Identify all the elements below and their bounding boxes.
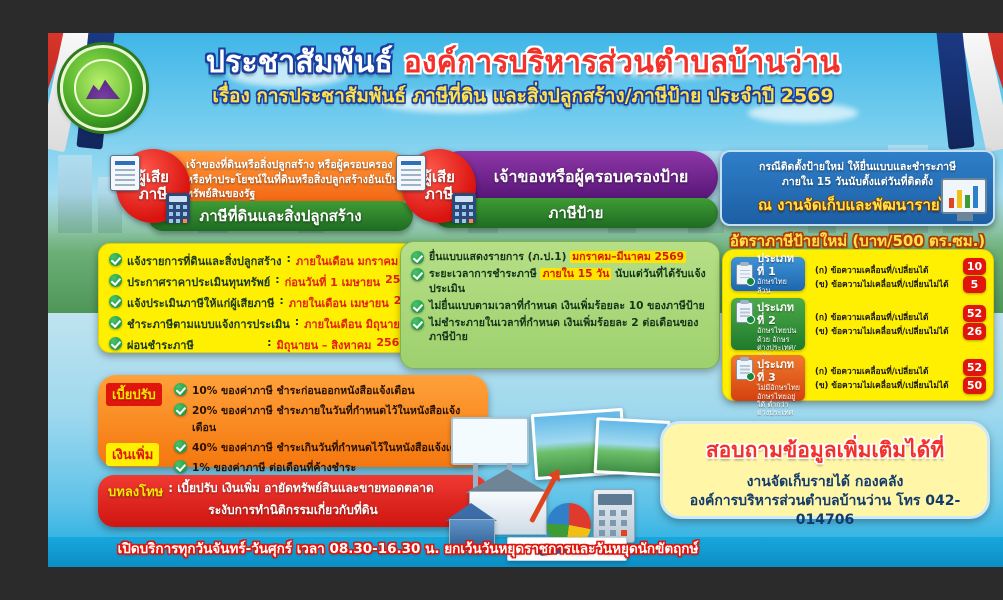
land-payer-desc-line1: เจ้าของที่ดินหรือสิ่งปลูกสร้าง หรือผู้คร…	[186, 158, 403, 173]
penalty-fine-tag: เบี้ยปรับ	[106, 383, 162, 406]
contact-title: สอบถามข้อมูลเพิ่มเติมได้ที่	[675, 434, 975, 467]
organization-emblem	[60, 45, 146, 131]
sign-payer-desc: เจ้าของหรือผู้ครอบครองป้าย	[494, 165, 689, 190]
check-icon	[411, 300, 424, 313]
poster-canvas: ประชาสัมพันธ์ องค์การบริหารส่วนตำบลบ้านว…	[48, 33, 1003, 567]
land-schedule-row-2: แจ้งประเมินภาษีให้แก่ผู้เสียภาษี : ภายใน…	[109, 294, 407, 312]
sign-rule-text: ระยะเวลาการชำระภาษี	[429, 268, 540, 280]
rate-category-3: ประเภทที่ 3ไม่มีอักษรไทย อักษรไทยอยู่ใต้…	[731, 355, 805, 401]
punishment-tag: บทลงโทษ	[108, 481, 163, 502]
schedule-label: แจ้งประเมินภาษีให้แก่ผู้เสียภาษี	[127, 294, 274, 312]
rate-table-panel: ประเภทที่ 1อักษรไทยล้วน (ก) ข้อความเคลื่…	[722, 249, 994, 401]
schedule-value: ก่อนวันที่ 1 เมษายน	[285, 273, 380, 291]
taxpayer-badge-land-line1: ผู้เสีย	[137, 169, 169, 186]
schedule-value: ภายในเดือน มิถุนายน	[304, 315, 407, 333]
penalty-fine-text: 40% ของค่าภาษี ชำระเกินวันที่กำหนดไว้ในห…	[192, 439, 470, 456]
punishment-line1: : เบี้ยปรับ เงินเพิ่ม อายัดทรัพย์สินและข…	[168, 481, 434, 497]
thai-flag-ribbon-right	[889, 33, 1003, 153]
rate-category-2-name: ประเภทที่ 2	[757, 302, 800, 327]
rate-category-3-name: ประเภทที่ 3	[757, 359, 800, 384]
check-icon	[109, 295, 122, 308]
penalty-panel: เบี้ยปรับ เงินเพิ่ม 10% ของค่าภาษี ชำระก…	[98, 375, 488, 467]
penalty-fine-text: 20% ของค่าภาษี ชำระภายในวันที่กำหนดไว้ใน…	[192, 402, 478, 436]
rate-3b-text: (ข) ข้อความไม่เคลื่อนที่/เปลี่ยนไม่ได้	[815, 378, 949, 392]
rate-category-1: ประเภทที่ 1อักษรไทยล้วน	[731, 257, 805, 291]
schedule-separator: :	[279, 294, 283, 307]
check-icon	[174, 460, 187, 473]
schedule-label: ประกาศราคาประเมินทุนทรัพย์	[127, 273, 270, 291]
rate-2a-value: 52	[963, 305, 986, 322]
new-sign-notice-box: กรณีติดตั้งป้ายใหม่ ให้ยื่นแบบและชำระภาษ…	[720, 150, 995, 226]
page-subtitle: เรื่อง การประชาสัมพันธ์ ภาษีที่ดิน และสิ…	[158, 81, 888, 111]
sign-rule-highlight: ภายใน 15 วัน	[540, 268, 611, 280]
sign-taxpayer-description: เจ้าของหรือผู้ครอบครองป้าย	[434, 151, 718, 203]
page-title-secondary: องค์การบริหารส่วนตำบลบ้านว่าน	[404, 45, 840, 80]
penalty-fine-text: 10% ของค่าภาษี ชำระก่อนออกหนังสือแจ้งเตื…	[192, 382, 415, 399]
sign-rule-text: ไม่ยื่นแบบตามเวลาที่กำหนด เงินเพิ่มร้อยล…	[429, 299, 705, 313]
land-tax-schedule-panel: แจ้งรายการที่ดินและสิ่งปลูกสร้าง : ภายใน…	[98, 243, 418, 353]
service-hours-footer: เปิดบริการทุกวันจันทร์-วันศุกร์ เวลา 08.…	[48, 537, 768, 559]
rate-category-3-detail: ไม่มีอักษรไทย อักษรไทยอยู่ใต้ ต่ำกว่าต่า…	[757, 384, 800, 417]
schedule-label: ผ่อนชำระภาษี	[127, 336, 262, 354]
land-schedule-row-4: ผ่อนชำระภาษี : มิถุนายน – สิงหาคม 2569	[109, 336, 407, 354]
land-schedule-row-0: แจ้งรายการที่ดินและสิ่งปลูกสร้าง : ภายใน…	[109, 252, 407, 270]
rate-1a-value: 10	[963, 258, 986, 275]
contact-line2: องค์การบริหารส่วนตำบลบ้านว่าน โทร 042-01…	[675, 492, 975, 530]
punishment-line2: ระงับการทำนิติกรรมเกี่ยวกับที่ดิน	[108, 503, 478, 519]
taxpayer-badge-land-line2: ภาษี	[139, 186, 167, 203]
land-schedule-row-1: ประกาศราคาประเมินทุนทรัพย์ : ก่อนวันที่ …	[109, 273, 407, 291]
schedule-separator: :	[295, 315, 299, 328]
penalty-surcharge-tag: เงินเพิ่ม	[106, 443, 159, 466]
rate-category-1-name: ประเภทที่ 1	[757, 253, 800, 278]
rate-3b-value: 50	[963, 377, 986, 394]
penalty-fine-row-2: 40% ของค่าภาษี ชำระเกินวันที่กำหนดไว้ในห…	[174, 439, 478, 456]
rate-category-1-detail: อักษรไทยล้วน	[757, 278, 800, 295]
punishment-panel: บทลงโทษ : เบี้ยปรับ เงินเพิ่ม อายัดทรัพย…	[98, 475, 488, 527]
check-icon	[174, 440, 187, 453]
calculator-icon-right	[452, 193, 476, 223]
sign-tax-rules-panel: ยื่นแบบแสดงรายการ (ภ.ป.1) มกราคม–มีนาคม …	[400, 241, 720, 369]
check-icon	[109, 316, 122, 329]
chart-monitor-icon	[941, 178, 987, 214]
taxpayer-badge-sign-line2: ภาษี	[425, 186, 453, 203]
landscape-photo-2	[594, 417, 671, 477]
sign-rule-highlight: มกราคม–มีนาคม 2569	[570, 251, 686, 263]
rate-1b-text: (ข) ข้อความไม่เคลื่อนที่/เปลี่ยนไม่ได้	[815, 277, 949, 291]
calculator-illustration	[593, 489, 635, 543]
rate-1b-value: 5	[963, 276, 986, 293]
rate-2b-value: 26	[963, 323, 986, 340]
billboard-icon	[451, 417, 529, 465]
sign-tax-banner: ภาษีป้าย	[434, 198, 718, 228]
rate-2b-text: (ข) ข้อความไม่เคลื่อนที่/เปลี่ยนไม่ได้	[815, 324, 949, 338]
clipboard-icon	[736, 302, 753, 323]
penalty-surcharge-row-0: 1% ของค่าภาษี ต่อเดือนที่ค้างชำระ	[174, 459, 478, 476]
schedule-value: ภายในเดือน มกราคม	[296, 252, 398, 270]
land-schedule-row-3: ชำระภาษีตามแบบแจ้งการประเมิน : ภายในเดือ…	[109, 315, 407, 333]
schedule-separator: :	[275, 273, 279, 286]
contact-panel: สอบถามข้อมูลเพิ่มเติมได้ที่ งานจัดเก็บรา…	[660, 421, 990, 519]
check-icon	[411, 317, 424, 330]
schedule-label: แจ้งรายการที่ดินและสิ่งปลูกสร้าง	[127, 252, 281, 270]
sign-rule-text: ไม่ชำระภายในเวลาที่กำหนด เงินเพิ่มร้อยละ…	[429, 316, 709, 345]
rate-3a-value: 52	[963, 359, 986, 376]
check-icon	[174, 383, 187, 396]
check-icon	[411, 251, 424, 264]
land-payer-desc-line2: หรือทำประโยชน์ในที่ดินหรือสิ่งปลูกสร้างอ…	[186, 173, 403, 188]
schedule-label: ชำระภาษีตามแบบแจ้งการประเมิน	[127, 315, 290, 333]
rate-1a-text: (ก) ข้อความเคลื่อนที่/เปลี่ยนได้	[815, 263, 928, 277]
rate-2a-text: (ก) ข้อความเคลื่อนที่/เปลี่ยนได้	[815, 310, 928, 324]
penalty-surcharge-text: 1% ของค่าภาษี ต่อเดือนที่ค้างชำระ	[192, 459, 356, 476]
sign-rule-text: ยื่นแบบแสดงรายการ (ภ.ป.1)	[429, 251, 570, 263]
new-sign-line1: กรณีติดตั้งป้ายใหม่ ให้ยื่นแบบและชำระภาษ…	[730, 160, 985, 175]
check-icon	[174, 403, 187, 416]
penalty-fine-row-1: 20% ของค่าภาษี ชำระภายในวันที่กำหนดไว้ใน…	[174, 402, 478, 436]
check-icon	[109, 274, 122, 287]
clipboard-icon	[736, 359, 753, 380]
document-icon-right	[396, 155, 426, 191]
title-block: ประชาสัมพันธ์ องค์การบริหารส่วนตำบลบ้านว…	[158, 47, 888, 111]
taxpayer-badge-sign-line1: ผู้เสีย	[423, 169, 455, 186]
document-icon-left	[110, 155, 140, 191]
sign-rule-row-2: ไม่ยื่นแบบตามเวลาที่กำหนด เงินเพิ่มร้อยล…	[411, 299, 709, 313]
rate-3a-text: (ก) ข้อความเคลื่อนที่/เปลี่ยนได้	[815, 364, 928, 378]
schedule-value: ภายในเดือน เมษายน	[289, 294, 389, 312]
page-title-primary: ประชาสัมพันธ์	[206, 45, 404, 80]
schedule-value: มิถุนายน – สิงหาคม	[277, 336, 372, 354]
check-icon	[109, 337, 122, 350]
sign-rule-row-1: ระยะเวลาการชำระภาษี ภายใน 15 วัน นับแต่ว…	[411, 267, 709, 296]
clipboard-icon	[736, 264, 753, 285]
sign-rule-row-0: ยื่นแบบแสดงรายการ (ภ.ป.1) มกราคม–มีนาคม …	[411, 250, 709, 264]
rate-category-2: ประเภทที่ 2อักษรไทยปนด้วย อักษรต่างประเท…	[731, 298, 805, 350]
schedule-separator: :	[286, 252, 290, 265]
check-icon	[109, 253, 122, 266]
land-payer-desc-line3: ทรัพย์สินของรัฐ	[186, 187, 403, 202]
schedule-separator: :	[267, 336, 271, 349]
contact-line1: งานจัดเก็บรายได้ กองคลัง	[675, 473, 975, 492]
penalty-fine-row-0: 10% ของค่าภาษี ชำระก่อนออกหนังสือแจ้งเตื…	[174, 382, 478, 399]
sign-rule-row-3: ไม่ชำระภายในเวลาที่กำหนด เงินเพิ่มร้อยละ…	[411, 316, 709, 345]
check-icon	[411, 268, 424, 281]
calculator-icon-left	[166, 193, 190, 223]
